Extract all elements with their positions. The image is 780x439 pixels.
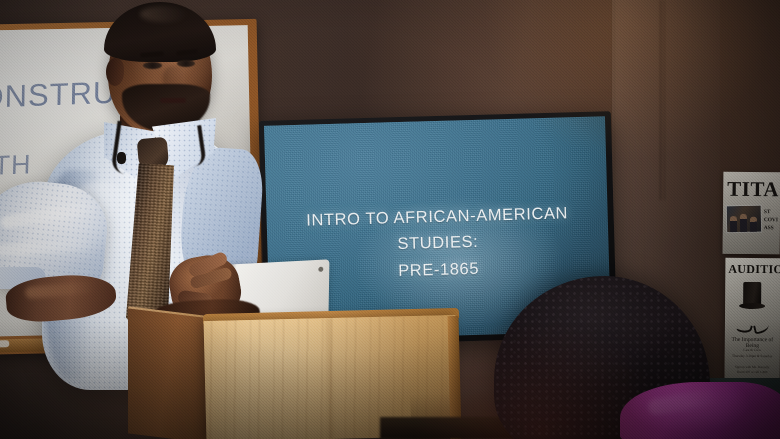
lower-darkening [0,319,780,439]
poster-shading [723,172,780,255]
lanyard-bead [117,152,126,164]
mouth [160,98,186,103]
eye-left [143,62,162,69]
laptop-camera [318,267,323,272]
screenshot-frame: CONSTRUC TH INTRO TO AFRICAN-AMERICAN ST… [0,0,780,439]
instructor-ear [106,58,124,86]
poster-titans: TITA ST COVI ASS [723,172,780,255]
eye-right [177,60,195,67]
wall-corner-highlight [660,0,665,200]
hair-highlight [140,6,188,22]
forearm-highlight [25,281,96,299]
slide-title-line-1: INTRO TO AFRICAN-AMERICAN STUDIES: [266,199,608,262]
